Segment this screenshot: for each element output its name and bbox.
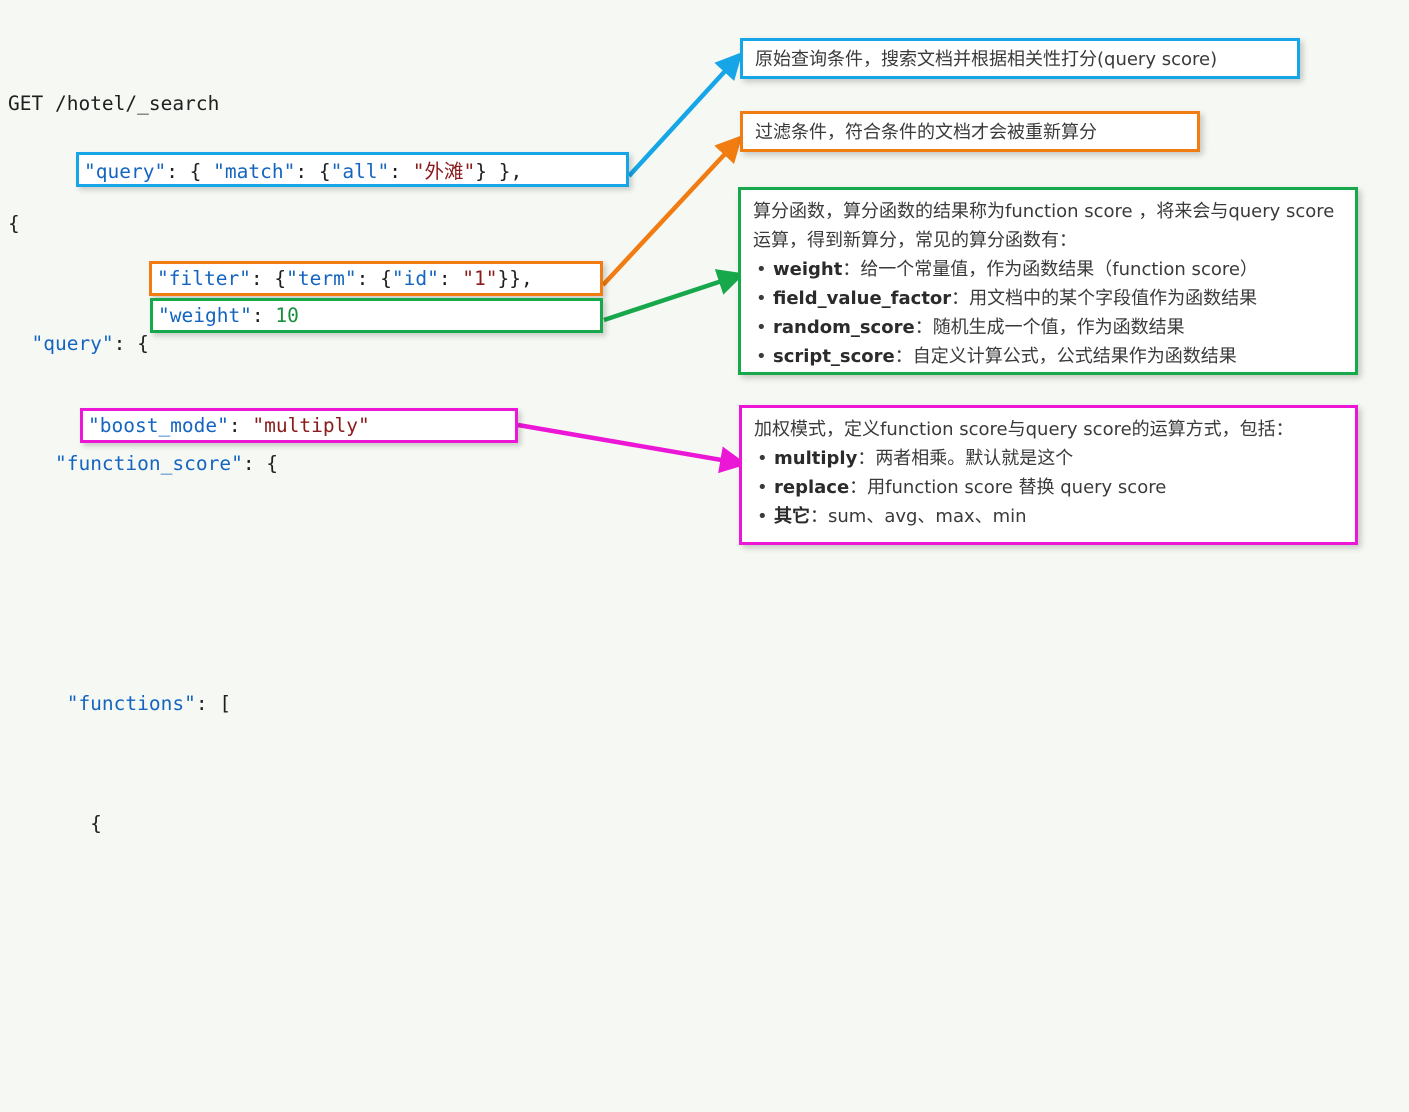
list-item: •script_score：自定义计算公式，公式结果作为函数结果	[753, 342, 1345, 371]
bullet-icon: •	[757, 444, 768, 473]
term: multiply	[774, 448, 857, 469]
filter-highlight-text: "filter": {"term": {"id": "1"}},	[152, 267, 533, 290]
note-functions-list: •weight：给一个常量值，作为函数结果（function score） •f…	[753, 255, 1345, 371]
note-query[interactable]: 原始查询条件，搜索文档并根据相关性打分(query score)	[740, 38, 1300, 79]
list-item: •multiply：两者相乘。默认就是这个	[754, 444, 1345, 473]
sep: ：	[849, 477, 867, 498]
note-boost-mode-list: •multiply：两者相乘。默认就是这个 •replace：用function…	[754, 444, 1345, 531]
desc: sum、avg、max、min	[828, 506, 1027, 527]
note-boost-mode[interactable]: 加权模式，定义function score与query score的运算方式，包…	[739, 405, 1358, 545]
note-query-lead: 原始查询条件，搜索文档并根据相关性打分(query score)	[755, 45, 1287, 74]
note-functions-lead: 算分函数，算分函数的结果称为function score ，将来会与query …	[753, 197, 1345, 255]
list-item: •其它：sum、avg、max、min	[754, 502, 1345, 531]
list-item: •weight：给一个常量值，作为函数结果（function score）	[753, 255, 1345, 284]
query-highlight-text: "query": { "match": {"all": "外滩"} },	[79, 155, 522, 184]
term: random_score	[773, 317, 915, 338]
bullet-icon: •	[756, 342, 767, 371]
note-boost-mode-lead: 加权模式，定义function score与query score的运算方式，包…	[754, 415, 1345, 444]
code-line-query	[8, 564, 728, 604]
bullet-icon: •	[757, 502, 768, 531]
sep: ：	[857, 448, 875, 469]
sep: ：	[951, 288, 969, 309]
boost-mode-highlight-text: "boost_mode": "multiply"	[83, 414, 370, 437]
term: field_value_factor	[773, 288, 951, 309]
bullet-icon: •	[756, 255, 767, 284]
desc: 用function score 替换 query score	[867, 477, 1166, 498]
weight-highlight[interactable]: "weight": 10	[150, 298, 603, 333]
sep: ：	[810, 506, 828, 527]
term: script_score	[773, 346, 895, 367]
bullet-icon: •	[756, 313, 767, 342]
term: replace	[774, 477, 849, 498]
sep: ：	[842, 259, 860, 280]
code-line-request: GET /hotel/_search	[8, 84, 728, 124]
list-item: •field_value_factor：用文档中的某个字段值作为函数结果	[753, 284, 1345, 313]
query-highlight[interactable]: "query": { "match": {"all": "外滩"} },	[76, 152, 629, 187]
code-line: "functions": [	[8, 684, 728, 724]
desc: 随机生成一个值，作为函数结果	[933, 317, 1185, 338]
note-filter[interactable]: 过滤条件，符合条件的文档才会被重新算分	[740, 111, 1200, 152]
filter-highlight[interactable]: "filter": {"term": {"id": "1"}},	[149, 261, 603, 296]
term: weight	[773, 259, 842, 280]
code-line-filter	[8, 924, 728, 964]
note-functions[interactable]: 算分函数，算分函数的结果称为function score ，将来会与query …	[738, 187, 1358, 375]
bullet-icon: •	[756, 284, 767, 313]
code-line: {	[8, 204, 728, 244]
desc: 自定义计算公式，公式结果作为函数结果	[913, 346, 1237, 367]
list-item: •random_score：随机生成一个值，作为函数结果	[753, 313, 1345, 342]
desc: 用文档中的某个字段值作为函数结果	[969, 288, 1257, 309]
diagram-canvas: GET /hotel/_search { "query": { "functio…	[0, 0, 1409, 556]
bullet-icon: •	[757, 473, 768, 502]
desc: 两者相乘。默认就是这个	[875, 448, 1073, 469]
request-line-text: GET /hotel/_search	[8, 92, 219, 115]
term: 其它	[774, 506, 810, 527]
boost-mode-highlight[interactable]: "boost_mode": "multiply"	[80, 408, 518, 443]
note-filter-lead: 过滤条件，符合条件的文档才会被重新算分	[755, 118, 1187, 147]
code-line-weight	[8, 1044, 728, 1084]
list-item: •replace：用function score 替换 query score	[754, 473, 1345, 502]
desc: 给一个常量值，作为函数结果（function score）	[860, 259, 1258, 280]
sep: ：	[915, 317, 933, 338]
code-line: "function_score": {	[8, 444, 728, 484]
code-line: {	[8, 804, 728, 844]
weight-highlight-text: "weight": 10	[153, 304, 299, 327]
sep: ：	[895, 346, 913, 367]
